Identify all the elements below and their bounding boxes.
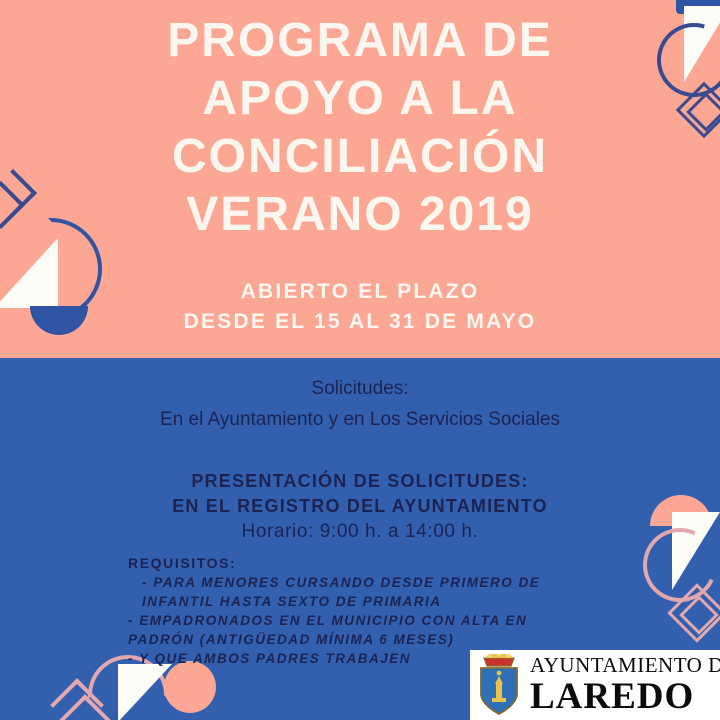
poster-title: PROGRAMA DE APOYO A LA CONCILIACIÓN VERA… xyxy=(0,12,720,244)
presentacion-horario: Horario: 9:00 h. a 14:00 h. xyxy=(0,519,720,544)
requisitos-heading: REQUISITOS: xyxy=(128,553,598,573)
laredo-coat-of-arms-icon xyxy=(476,654,522,716)
logo-line-2: LAREDO xyxy=(530,678,720,715)
requisito-item: - EMPADRONADOS EN EL MUNICIPIO CON ALTA … xyxy=(128,611,598,649)
poster-canvas: PROGRAMA DE APOYO A LA CONCILIACIÓN VERA… xyxy=(0,0,720,720)
logo-wordmark: AYUNTAMIENTO DE LAREDO xyxy=(530,655,720,715)
subtitle-line-1: ABIERTO EL PLAZO xyxy=(0,277,720,307)
solicitudes-detail: En el Ayuntamiento y en Los Servicios So… xyxy=(0,404,720,435)
requisito-item: - PARA MENORES CURSANDO DESDE PRIMERO DE… xyxy=(128,573,598,611)
solicitudes-block: Solicitudes: En el Ayuntamiento y en Los… xyxy=(0,373,720,435)
poster-subtitle: ABIERTO EL PLAZO DESDE EL 15 AL 31 DE MA… xyxy=(0,277,720,337)
presentacion-line-2: EN EL REGISTRO DEL AYUNTAMIENTO xyxy=(0,494,720,519)
solicitudes-heading: Solicitudes: xyxy=(0,373,720,404)
logo-line-1: AYUNTAMIENTO DE xyxy=(530,655,720,676)
subtitle-line-2: DESDE EL 15 AL 31 DE MAYO xyxy=(0,307,720,337)
ayuntamiento-laredo-logo: AYUNTAMIENTO DE LAREDO xyxy=(470,650,720,720)
presentacion-block: PRESENTACIÓN DE SOLICITUDES: EN EL REGIS… xyxy=(0,469,720,544)
presentacion-line-1: PRESENTACIÓN DE SOLICITUDES: xyxy=(0,469,720,494)
title-line-4: VERANO 2019 xyxy=(0,186,720,244)
title-line-3: CONCILIACIÓN xyxy=(0,128,720,186)
title-line-2: APOYO A LA xyxy=(0,70,720,128)
title-line-1: PROGRAMA DE xyxy=(0,12,720,70)
